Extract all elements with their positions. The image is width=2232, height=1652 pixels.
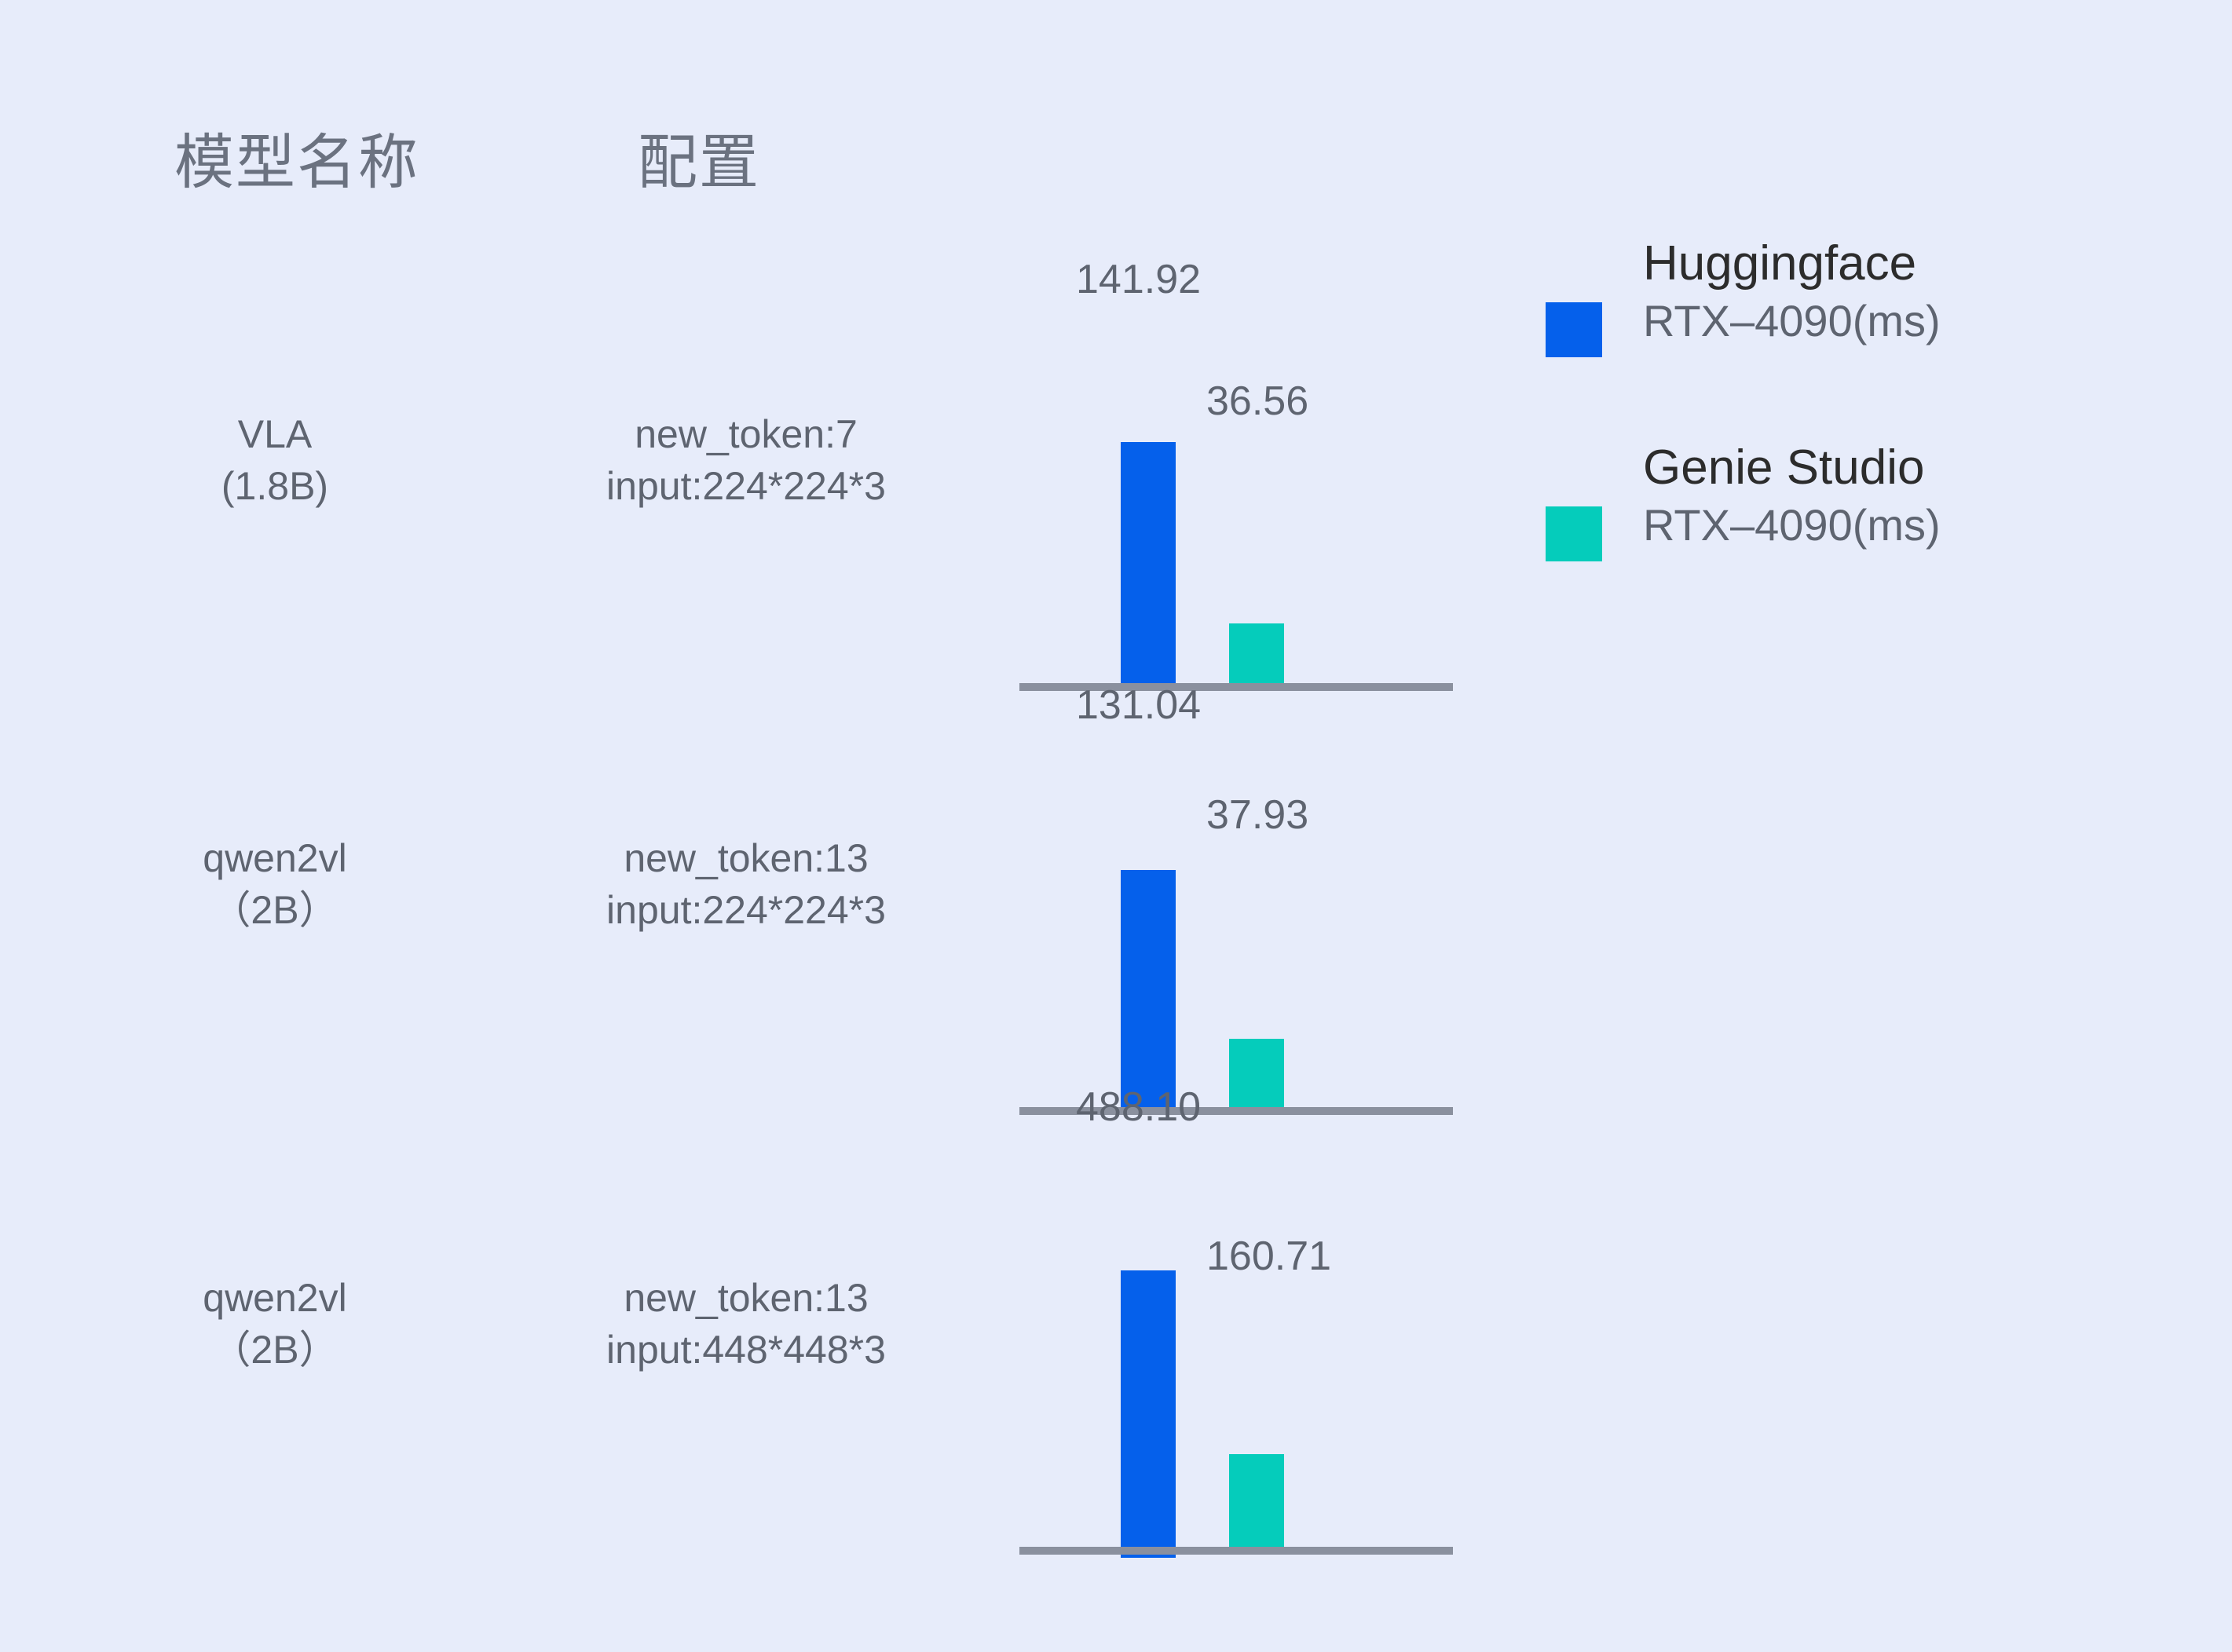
table-row: qwen2vl （2B） new_token:13 input:448*448*… [0,1272,2232,1515]
config-line-1: new_token:13 [471,832,1021,884]
bar-value-label-genie-studio: 160.71 [1206,1236,1331,1277]
model-name-cell: VLA (1.8B) [118,408,432,512]
legend-text-block: Genie Studio RTX–4090(ms) [1643,440,2130,555]
config-cell: new_token:7 input:224*224*3 [471,408,1021,512]
baseline-axis [1019,1547,1453,1555]
teal-swatch-icon [1546,506,1602,561]
legend-subtitle: RTX–4090(ms) [1643,291,2130,351]
model-name-line-2: （2B） [118,884,432,936]
chart-canvas: 模型名称 配置 VLA (1.8B) new_token:7 input:224… [0,0,2232,1652]
model-name-line-1: VLA [118,408,432,460]
legend-title: Genie Studio [1643,440,2130,495]
table-row: qwen2vl （2B） new_token:13 input:224*224*… [0,832,2232,1076]
blue-swatch-icon [1546,302,1602,357]
bar-value-label-genie-studio: 36.56 [1206,381,1308,422]
bar-panel: 131.04 37.93 [1019,675,1453,1115]
config-line-1: new_token:7 [471,408,1021,460]
config-line-1: new_token:13 [471,1272,1021,1324]
model-name-line-1: qwen2vl [118,832,432,884]
bar-huggingface[interactable] [1121,1270,1176,1558]
config-cell: new_token:13 input:224*224*3 [471,832,1021,936]
legend-text-block: Huggingface RTX–4090(ms) [1643,236,2130,351]
legend-title: Huggingface [1643,236,2130,291]
legend-item-huggingface[interactable]: Huggingface RTX–4090(ms) [1546,236,2142,440]
column-header-model-name: 模型名称 [174,133,419,193]
config-line-2: input:224*224*3 [471,460,1021,512]
legend-subtitle: RTX–4090(ms) [1643,495,2130,555]
bar-genie-studio[interactable] [1229,1454,1284,1547]
model-name-cell: qwen2vl （2B） [118,832,432,936]
config-line-2: input:224*224*3 [471,884,1021,936]
bar-panel: 488.10 160.71 [1019,1115,1453,1555]
model-name-cell: qwen2vl （2B） [118,1272,432,1376]
bar-value-label-huggingface: 141.92 [1076,259,1201,300]
bar-genie-studio[interactable] [1229,623,1284,683]
bar-huggingface[interactable] [1121,442,1176,683]
config-cell: new_token:13 input:448*448*3 [471,1272,1021,1376]
model-name-line-1: qwen2vl [118,1272,432,1324]
bar-value-label-huggingface: 131.04 [1076,685,1201,725]
bar-value-label-genie-studio: 37.93 [1206,795,1308,835]
bar-huggingface[interactable] [1121,870,1176,1107]
bar-value-label-huggingface: 488.10 [1076,1087,1201,1128]
model-name-line-2: （2B） [118,1324,432,1376]
column-header-config: 配置 [638,133,760,193]
legend-item-genie-studio[interactable]: Genie Studio RTX–4090(ms) [1546,440,2142,644]
bar-genie-studio[interactable] [1229,1039,1284,1107]
model-name-line-2: (1.8B) [118,460,432,512]
legend: Huggingface RTX–4090(ms) Genie Studio RT… [1546,236,2142,644]
config-line-2: input:448*448*3 [471,1324,1021,1376]
bar-panel: 141.92 36.56 [1019,251,1453,691]
